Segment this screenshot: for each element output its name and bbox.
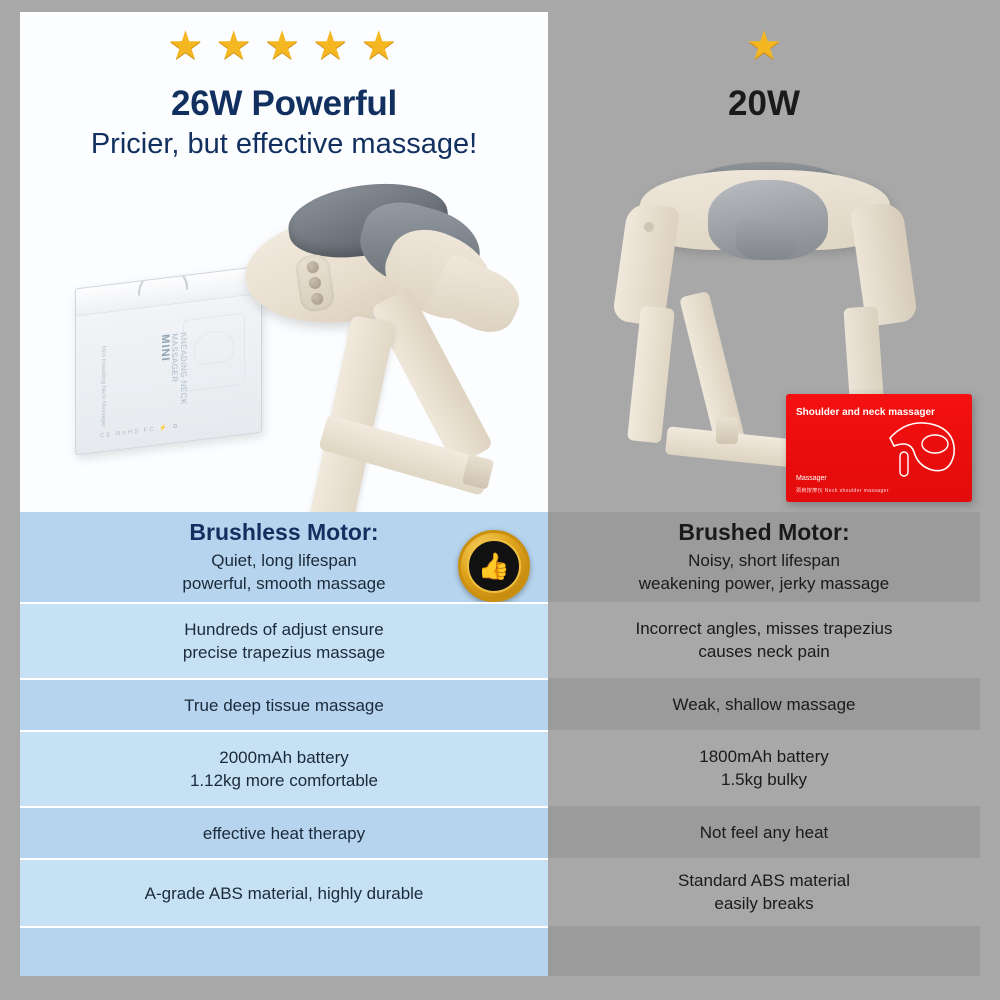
feature-line-right: weakening power, jerky massage — [639, 572, 889, 595]
feature-line-left: Hundreds of adjust ensure — [184, 618, 383, 641]
red-box-product-illustration — [880, 408, 966, 488]
device-strap-left — [627, 306, 675, 444]
feature-title-right: Brushed Motor: — [678, 519, 849, 546]
box-side-text: Mini Kneading Neck Massager — [100, 346, 106, 428]
feature-row: True deep tissue massage Weak, shallow m… — [20, 678, 980, 730]
red-box-sub2: 颈肩按摩仪 Neck shoulder massager — [796, 487, 889, 494]
thumbs-up-icon: 👍 — [478, 553, 510, 579]
feature-line-right: Standard ABS material — [678, 869, 850, 892]
feature-cell-left: effective heat therapy — [20, 806, 548, 858]
left-massager-device — [210, 167, 540, 507]
star-icon: ★ — [264, 26, 304, 66]
right-product-image: Shoulder and neck massager Massager 颈肩按摩… — [548, 142, 980, 512]
left-product-column: ★ ★ ★ ★ ★ 26W Powerful Pricier, but effe… — [20, 12, 548, 512]
product-hero-area: ★ ★ ★ ★ ★ 26W Powerful Pricier, but effe… — [20, 12, 980, 512]
star-icon: ★ — [167, 26, 207, 66]
feature-cell-right: Incorrect angles, misses trapezius cause… — [548, 602, 980, 678]
feature-cell-left: True deep tissue massage — [20, 678, 548, 730]
device-button — [308, 276, 322, 290]
right-headline: 20W — [548, 84, 980, 124]
feature-line-right: causes neck pain — [698, 640, 829, 663]
feature-line-left: powerful, smooth massage — [182, 572, 385, 595]
feature-cell-right: Not feel any heat — [548, 806, 980, 858]
feature-line-left: effective heat therapy — [203, 822, 365, 845]
feature-line-right: Noisy, short lifespan — [688, 549, 840, 572]
feature-line-right: Incorrect angles, misses trapezius — [636, 617, 893, 640]
feature-line-left: A-grade ABS material, highly durable — [145, 882, 424, 905]
feature-cell-left — [20, 926, 548, 976]
device-neck-pad-secondary — [736, 220, 798, 260]
feature-line-right: 1800mAh battery — [699, 745, 828, 768]
feature-row: Hundreds of adjust ensure precise trapez… — [20, 602, 980, 678]
star-icon: ★ — [746, 26, 782, 66]
feature-cell-right: Standard ABS material easily breaks — [548, 858, 980, 926]
feature-row: effective heat therapy Not feel any heat — [20, 806, 980, 858]
device-buckle — [716, 418, 738, 444]
star-icon: ★ — [312, 26, 352, 66]
feature-cell-left: 2000mAh battery 1.12kg more comfortable — [20, 730, 548, 806]
left-headline: 26W Powerful — [20, 84, 548, 124]
feature-row-filler — [20, 926, 980, 976]
feature-line-left: precise trapezius massage — [183, 641, 385, 664]
feature-row: 2000mAh battery 1.12kg more comfortable … — [20, 730, 980, 806]
comparison-panel: ★ ★ ★ ★ ★ 26W Powerful Pricier, but effe… — [20, 12, 980, 976]
badge-inner: 👍 — [467, 539, 521, 593]
star-icon: ★ — [216, 26, 256, 66]
feature-cell-left: Hundreds of adjust ensure precise trapez… — [20, 602, 548, 678]
left-star-rating: ★ ★ ★ ★ ★ — [20, 12, 548, 72]
comparison-infographic: ★ ★ ★ ★ ★ 26W Powerful Pricier, but effe… — [0, 0, 1000, 1000]
feature-line-right: 1.5kg bulky — [721, 768, 807, 791]
feature-line-right: easily breaks — [714, 892, 813, 915]
feature-cell-right: Brushed Motor: Noisy, short lifespan wea… — [548, 512, 980, 602]
device-button — [306, 260, 320, 274]
feature-title-left: Brushless Motor: — [189, 519, 378, 546]
device-button — [310, 292, 324, 306]
feature-row: Brushless Motor: Quiet, long lifespan po… — [20, 512, 980, 602]
feature-comparison-rows: Brushless Motor: Quiet, long lifespan po… — [20, 512, 980, 976]
feature-row: A-grade ABS material, highly durable Sta… — [20, 858, 980, 926]
star-icon: ★ — [361, 26, 401, 66]
red-box-sub: Massager — [796, 475, 827, 482]
device-buckle — [462, 454, 494, 489]
feature-cell-left: A-grade ABS material, highly durable — [20, 858, 548, 926]
left-product-image: MINI KNEADING NECK MASSAGER Mini Kneadin… — [20, 157, 548, 512]
feature-line-left: True deep tissue massage — [184, 694, 384, 717]
feature-line-left: 2000mAh battery — [219, 746, 348, 769]
right-product-column: ★ 20W Shoulder an — [548, 12, 980, 512]
feature-line-left: 1.12kg more comfortable — [190, 769, 378, 792]
device-button — [644, 222, 654, 232]
feature-cell-right — [548, 926, 980, 976]
feature-line-left: Quiet, long lifespan — [211, 549, 357, 572]
recommended-badge: 👍 — [458, 530, 530, 602]
right-star-rating: ★ — [548, 12, 980, 72]
right-retail-box: Shoulder and neck massager Massager 颈肩按摩… — [786, 394, 972, 502]
feature-line-right: Weak, shallow massage — [673, 693, 856, 716]
box-cert-marks: CE RoHS FC ⚡ ♻ — [100, 423, 180, 440]
feature-cell-right: 1800mAh battery 1.5kg bulky — [548, 730, 980, 806]
feature-cell-right: Weak, shallow massage — [548, 678, 980, 730]
feature-line-right: Not feel any heat — [700, 821, 829, 844]
